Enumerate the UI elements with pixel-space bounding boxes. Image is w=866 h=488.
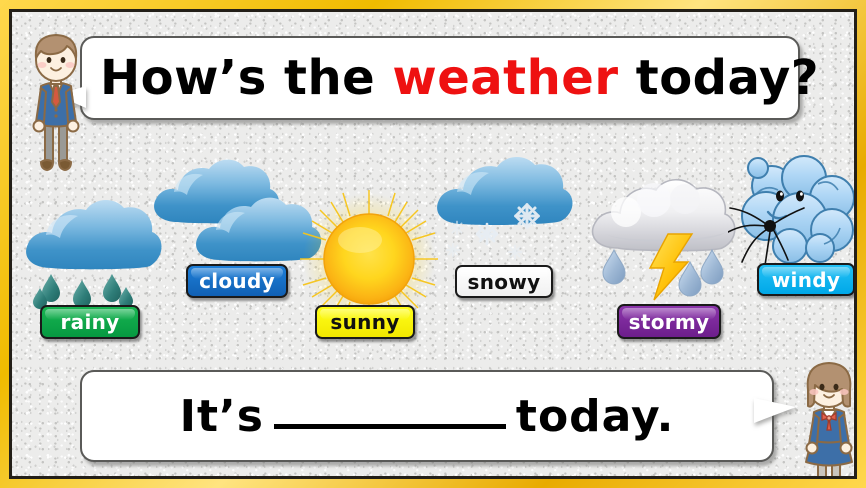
word-label-sunny[interactable]: sunny	[315, 305, 415, 339]
word-label-windy[interactable]: windy	[757, 263, 855, 296]
thunderstorm-icon	[584, 172, 748, 317]
title-suffix: today?	[619, 50, 820, 106]
word-label-rainy-text: rainy	[61, 310, 120, 334]
word-label-rainy[interactable]: rainy	[40, 305, 140, 339]
answer-prefix: It’s	[180, 391, 264, 442]
word-label-cloudy[interactable]: cloudy	[186, 264, 288, 298]
title-speech-bubble: How’s the weather today?	[80, 36, 800, 120]
word-label-snowy[interactable]: snowy	[455, 265, 553, 298]
title-keyword: weather	[392, 50, 618, 106]
answer-blank[interactable]	[274, 398, 506, 429]
answer-sentence: It’stoday.	[82, 391, 772, 442]
boy-character	[20, 30, 92, 178]
word-label-cloudy-text: cloudy	[199, 269, 275, 293]
word-label-windy-text: windy	[772, 268, 840, 292]
word-label-stormy[interactable]: stormy	[617, 304, 721, 339]
weather-poster: rainy cloudy sunny snowy stormy windy Ho…	[0, 0, 866, 488]
poster-frame: rainy cloudy sunny snowy stormy windy Ho…	[9, 9, 857, 479]
answer-speech-bubble: It’stoday.	[80, 370, 774, 462]
word-label-stormy-text: stormy	[629, 310, 710, 334]
girl-character	[790, 356, 857, 479]
answer-suffix: today.	[516, 391, 674, 442]
page-title: How’s the weather today?	[82, 50, 816, 106]
word-label-snowy-text: snowy	[468, 270, 541, 294]
title-prefix: How’s the	[100, 50, 392, 106]
word-label-sunny-text: sunny	[330, 310, 399, 334]
